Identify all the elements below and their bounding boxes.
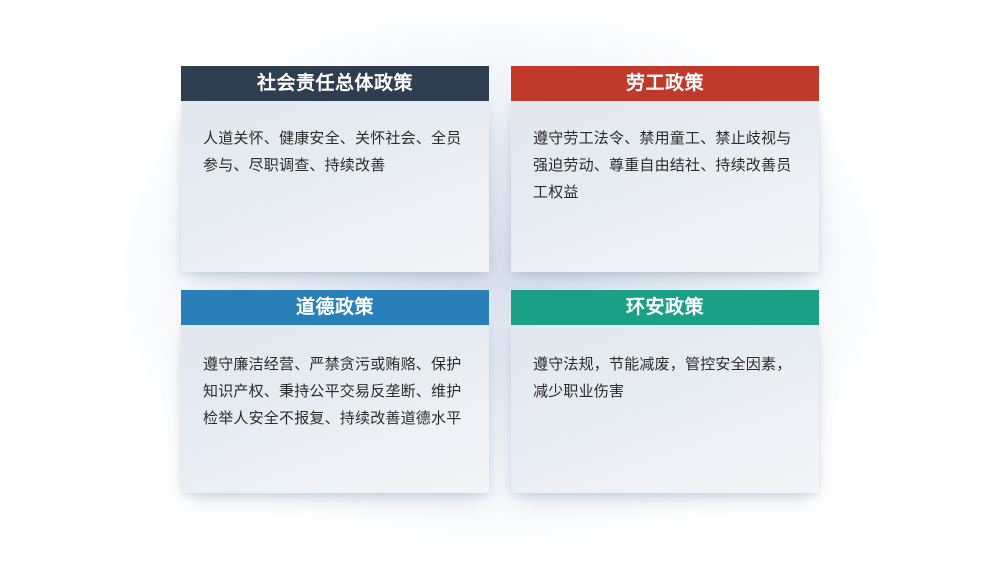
- policy-overview-slide: 社会责任总体政策 人道关怀、健康安全、关怀社会、全员参与、尽职调查、持续改善 劳…: [0, 0, 1000, 562]
- policy-card-header: 环安政策: [511, 290, 819, 325]
- policy-card-body: 遵守法规，节能减废，管控安全因素，减少职业伤害: [511, 325, 819, 493]
- policy-card-overall-social-responsibility[interactable]: 社会责任总体政策 人道关怀、健康安全、关怀社会、全员参与、尽职调查、持续改善: [181, 66, 489, 272]
- policy-card-environment-safety[interactable]: 环安政策 遵守法规，节能减废，管控安全因素，减少职业伤害: [511, 290, 819, 493]
- policy-card-body: 人道关怀、健康安全、关怀社会、全员参与、尽职调查、持续改善: [181, 101, 489, 272]
- policy-card-body: 遵守劳工法令、禁用童工、禁止歧视与强迫劳动、尊重自由结社、持续改善员工权益: [511, 101, 819, 272]
- policy-card-header: 道德政策: [181, 290, 489, 325]
- policy-card-grid: 社会责任总体政策 人道关怀、健康安全、关怀社会、全员参与、尽职调查、持续改善 劳…: [181, 66, 819, 493]
- policy-card-text: 遵守法规，节能减废，管控安全因素，减少职业伤害: [533, 351, 797, 405]
- policy-card-header: 社会责任总体政策: [181, 66, 489, 101]
- policy-card-ethics[interactable]: 道德政策 遵守廉洁经营、严禁贪污或贿赂、保护知识产权、秉持公平交易反垄断、维护检…: [181, 290, 489, 493]
- policy-card-labor[interactable]: 劳工政策 遵守劳工法令、禁用童工、禁止歧视与强迫劳动、尊重自由结社、持续改善员工…: [511, 66, 819, 272]
- policy-card-text: 遵守劳工法令、禁用童工、禁止歧视与强迫劳动、尊重自由结社、持续改善员工权益: [533, 125, 797, 206]
- policy-card-body: 遵守廉洁经营、严禁贪污或贿赂、保护知识产权、秉持公平交易反垄断、维护检举人安全不…: [181, 325, 489, 493]
- policy-card-header: 劳工政策: [511, 66, 819, 101]
- policy-card-text: 人道关怀、健康安全、关怀社会、全员参与、尽职调查、持续改善: [203, 125, 467, 179]
- policy-card-text: 遵守廉洁经营、严禁贪污或贿赂、保护知识产权、秉持公平交易反垄断、维护检举人安全不…: [203, 351, 467, 432]
